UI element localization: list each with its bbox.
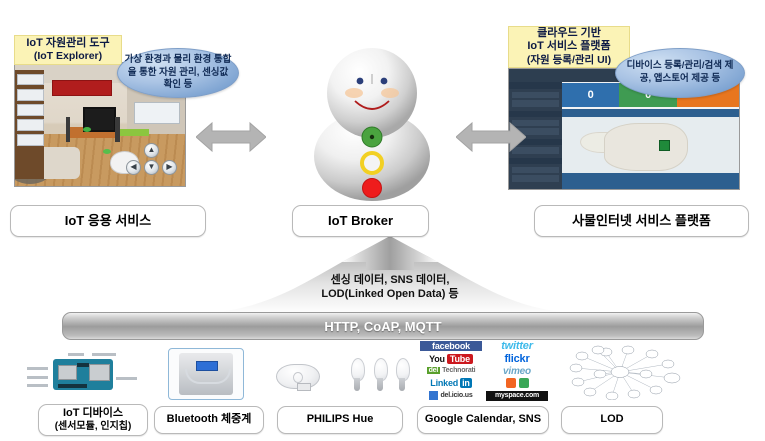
- map-marker-icon[interactable]: [659, 140, 670, 151]
- lod-cloud-image: [560, 344, 688, 400]
- right-callout-text: 디바이스 등록/관리/검색 제공, 앱스토어 제공 등: [622, 60, 738, 86]
- left-caption-line1: IoT 자원관리 도구: [26, 37, 109, 51]
- technorati-logo: delTechnorati: [420, 366, 482, 376]
- social-logos-image: facebook twitter YouTube flickr delTechn…: [420, 341, 548, 401]
- robot-eye-left: [357, 78, 364, 85]
- tier-label-iot-broker: IoT Broker: [292, 205, 429, 237]
- right-caption-line1: 클라우드 기반: [537, 27, 601, 41]
- device-label-line1: Google Calendar, SNS: [425, 413, 541, 427]
- robot-indicator-yellow: [362, 153, 382, 173]
- device-label-iot-device: IoT 디바이스 (센서모듈, 인지칩): [38, 404, 148, 436]
- protocol-bar-text: HTTP, CoAP, MQTT: [324, 319, 441, 334]
- map-panel-header: [562, 109, 739, 117]
- room-red-banner: [52, 80, 112, 96]
- hue-bulbs-image: [350, 350, 416, 398]
- robot-head: [327, 48, 417, 138]
- device-label-lod: LOD: [561, 406, 663, 434]
- device-label-line1: LOD: [600, 413, 623, 427]
- nav-right-button[interactable]: ▶: [162, 160, 177, 175]
- protocol-bar: HTTP, CoAP, MQTT: [62, 312, 704, 340]
- left-tier-text: IoT 응용 서비스: [65, 213, 152, 229]
- linkedin-logo: Linkedin: [420, 378, 482, 388]
- stat-tile-blue[interactable]: 0: [562, 83, 620, 107]
- flickr-logo: flickr: [486, 353, 548, 363]
- diagram-canvas: ▲ ◀ ▼ ▶ IoT 자원관리 도구 (IoT Explorer) 가상 환경…: [0, 0, 765, 441]
- right-caption-label: 클라우드 기반 IoT 서비스 플랫폼 (자원 등록/관리 UI): [508, 26, 630, 68]
- korea-map[interactable]: [562, 117, 739, 173]
- delicious-logo: del.icio.us: [420, 391, 482, 401]
- device-label-line1: IoT 디바이스: [63, 407, 123, 421]
- robot-indicator-red: [363, 179, 382, 198]
- stat-tile-blue-value: 0: [588, 89, 594, 101]
- nav-left-button[interactable]: ◀: [126, 160, 141, 175]
- twitter-logo: twitter: [486, 341, 548, 351]
- robot-eye-right: [381, 78, 388, 85]
- hue-bridge-image: [272, 352, 346, 398]
- right-double-arrow-icon: [456, 120, 526, 154]
- tier-label-iot-service-platform: 사물인터넷 서비스 플랫폼: [534, 205, 749, 237]
- room-window: [134, 102, 180, 124]
- device-label-philips-hue: PHILIPS Hue: [277, 406, 403, 434]
- device-label-google-calendar-sns: Google Calendar, SNS: [417, 406, 549, 434]
- right-caption-line3: (자원 등록/관리 UI): [527, 54, 611, 67]
- bluetooth-scale-image: [168, 348, 244, 400]
- left-callout-text: 가상 환경과 물리 환경 통합을 통한 자원 관리, 센싱값 확인 등: [124, 54, 232, 92]
- left-double-arrow-icon: [196, 120, 266, 154]
- explorer-resource-list[interactable]: [15, 70, 44, 178]
- left-caption-line2: (IoT Explorer): [34, 50, 102, 63]
- youtube-logo: YouTube: [420, 353, 482, 363]
- facebook-logo: facebook: [420, 341, 482, 351]
- data-flow-line2: LOD(Linked Open Data) 등: [230, 288, 550, 302]
- right-caption-line2: IoT 서비스 플랫폼: [527, 40, 610, 54]
- data-flow-line1: 센싱 데이터, SNS 데이터,: [230, 274, 550, 288]
- left-caption-label: IoT 자원관리 도구 (IoT Explorer): [14, 35, 122, 65]
- device-label-bluetooth-scale: Bluetooth 체중계: [154, 406, 264, 434]
- map-panel-footer: [562, 173, 739, 189]
- iot-device-image: [22, 348, 142, 400]
- vimeo-logo: vimeo: [486, 366, 548, 376]
- right-tier-text: 사물인터넷 서비스 플랫폼: [572, 213, 711, 229]
- nav-up-button[interactable]: ▲: [144, 143, 159, 158]
- left-callout-bubble: 가상 환경과 물리 환경 통합을 통한 자원 관리, 센싱값 확인 등: [117, 48, 239, 98]
- device-label-line1: Bluetooth 체중계: [167, 413, 252, 427]
- tier-label-iot-application-service: IoT 응용 서비스: [10, 205, 206, 237]
- myspace-logo: myspace.com: [486, 391, 548, 401]
- iot-broker-robot: [292, 38, 452, 208]
- data-flow-caption: 센싱 데이터, SNS 데이터, LOD(Linked Open Data) 등: [230, 274, 550, 302]
- nav-down-button[interactable]: ▼: [144, 160, 159, 175]
- rss-stumbleupon-logos: [486, 378, 548, 388]
- device-label-line2: (센서모듈, 인지칩): [55, 421, 132, 434]
- right-callout-bubble: 디바이스 등록/관리/검색 제공, 앱스토어 제공 등: [615, 48, 745, 98]
- device-label-line1: PHILIPS Hue: [307, 413, 374, 427]
- center-tier-text: IoT Broker: [328, 213, 393, 229]
